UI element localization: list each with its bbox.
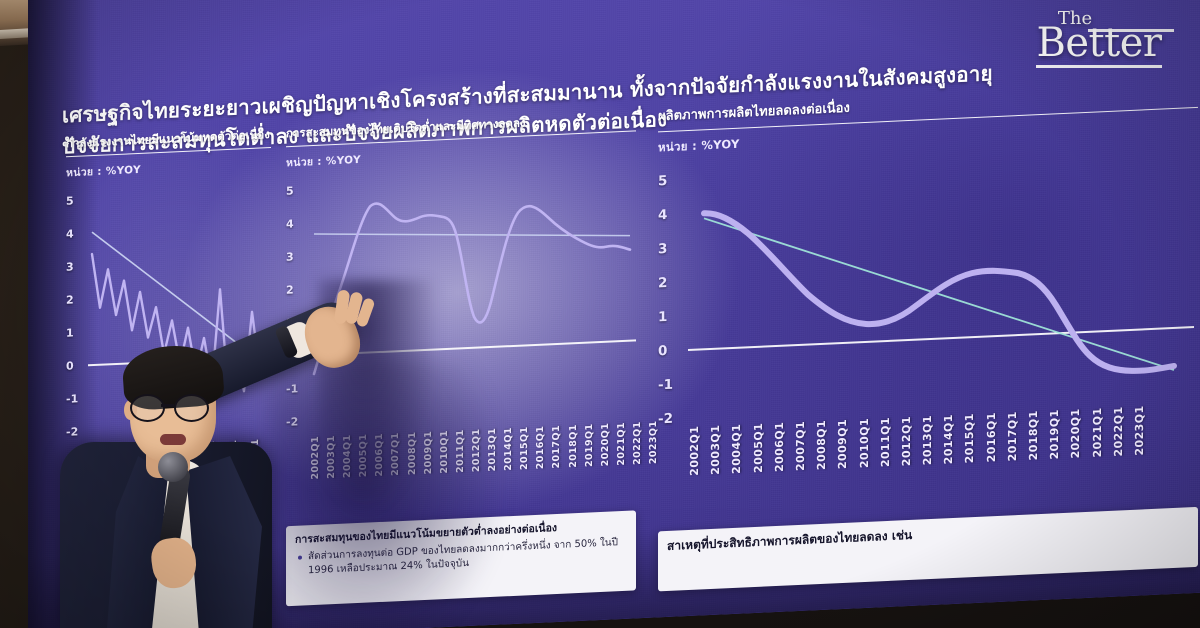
- y-tick-0: 0: [658, 343, 667, 359]
- microphone-head: [158, 452, 188, 482]
- x-tick: 2021Q1: [616, 422, 627, 466]
- x-tick: 2006Q1: [773, 421, 786, 472]
- logo-rule-bottom: [1036, 65, 1162, 68]
- x-tick: 2015Q1: [519, 426, 530, 470]
- callout-card-productivity: สาเหตุที่ประสิทธิภาพการผลิตของไทยลดลง เช…: [658, 507, 1198, 592]
- x-tick: 2005Q1: [752, 422, 765, 473]
- x-tick: 2012Q1: [900, 416, 913, 467]
- x-tick: 2013Q1: [921, 415, 934, 466]
- y-tick-2: 2: [286, 283, 294, 296]
- x-tick: 2022Q1: [632, 421, 643, 465]
- x-tick: 2018Q1: [1027, 410, 1040, 461]
- y-tick-4: 4: [66, 227, 74, 240]
- callout-title: สาเหตุที่ประสิทธิภาพการผลิตของไทยลดลง เช…: [658, 507, 1198, 558]
- x-tick: 2014Q1: [942, 414, 955, 465]
- speaker: [18, 330, 448, 628]
- chart-productivity: 5 4 3 2 1 0 -1 -2: [658, 141, 1198, 424]
- y-tick-4: 4: [286, 217, 294, 230]
- productivity-data-line: [704, 192, 1174, 391]
- x-tick: 2023Q1: [1133, 405, 1146, 456]
- y-tick-5: 5: [66, 194, 74, 207]
- x-tick: 2002Q1: [688, 425, 701, 476]
- x-tick: 2018Q1: [568, 424, 579, 468]
- x-tick: 2020Q1: [600, 422, 611, 466]
- productivity-series-svg: [688, 141, 1194, 422]
- x-tick: 2009Q1: [836, 419, 849, 470]
- x-tick: 2007Q1: [794, 421, 807, 472]
- y-tick-3: 3: [658, 241, 667, 257]
- x-tick: 2022Q1: [1112, 406, 1125, 457]
- x-tick: 2017Q1: [1006, 411, 1019, 462]
- plot-area-productivity: [688, 141, 1194, 422]
- x-tick: 2008Q1: [815, 420, 828, 471]
- the-better-logo: The Better: [1024, 10, 1174, 68]
- y-tick-4: 4: [658, 207, 667, 223]
- x-tick: 2019Q1: [584, 423, 595, 467]
- x-tick: 2017Q1: [551, 425, 562, 469]
- y-tick-2: 2: [658, 275, 667, 291]
- y-tick-3: 3: [286, 250, 294, 263]
- x-tick: 2016Q1: [535, 425, 546, 469]
- x-tick: 2021Q1: [1091, 407, 1104, 458]
- y-tick-3: 3: [66, 260, 74, 273]
- glasses-bridge: [161, 404, 174, 407]
- x-tick: 2020Q1: [1069, 408, 1082, 459]
- x-tick: 2019Q1: [1048, 409, 1061, 460]
- x-tick: 2004Q1: [730, 423, 743, 474]
- screenshot-stage: เศรษฐกิจไทยระยะยาวเผชิญปัญหาเชิงโครงสร้า…: [0, 0, 1200, 628]
- lens-right: [174, 394, 209, 422]
- y-tick-2: 2: [66, 293, 74, 306]
- y-tick-5: 5: [286, 184, 294, 197]
- y-tick-5: 5: [658, 173, 667, 189]
- x-tick: 2003Q1: [709, 424, 722, 475]
- speaker-mouth: [160, 434, 186, 445]
- y-tick-1: 1: [658, 309, 667, 325]
- y-tick-m1: -1: [658, 377, 673, 394]
- panel-labour-unit: หน่วย : %YOY: [66, 155, 271, 181]
- x-tick: 2011Q1: [879, 417, 892, 468]
- x-tick: 2016Q1: [985, 412, 998, 463]
- eyeglasses: [128, 394, 218, 418]
- y-tick-m2: -2: [658, 411, 673, 428]
- lens-left: [130, 394, 165, 422]
- x-tick: 2015Q1: [963, 413, 976, 464]
- logo-rule-top: [1088, 29, 1174, 32]
- panel-productivity: ผลิตภาพการผลิตไทยลดลงต่อเนื่อง หน่วย : %…: [658, 85, 1198, 423]
- x-tick: 2010Q1: [858, 418, 871, 469]
